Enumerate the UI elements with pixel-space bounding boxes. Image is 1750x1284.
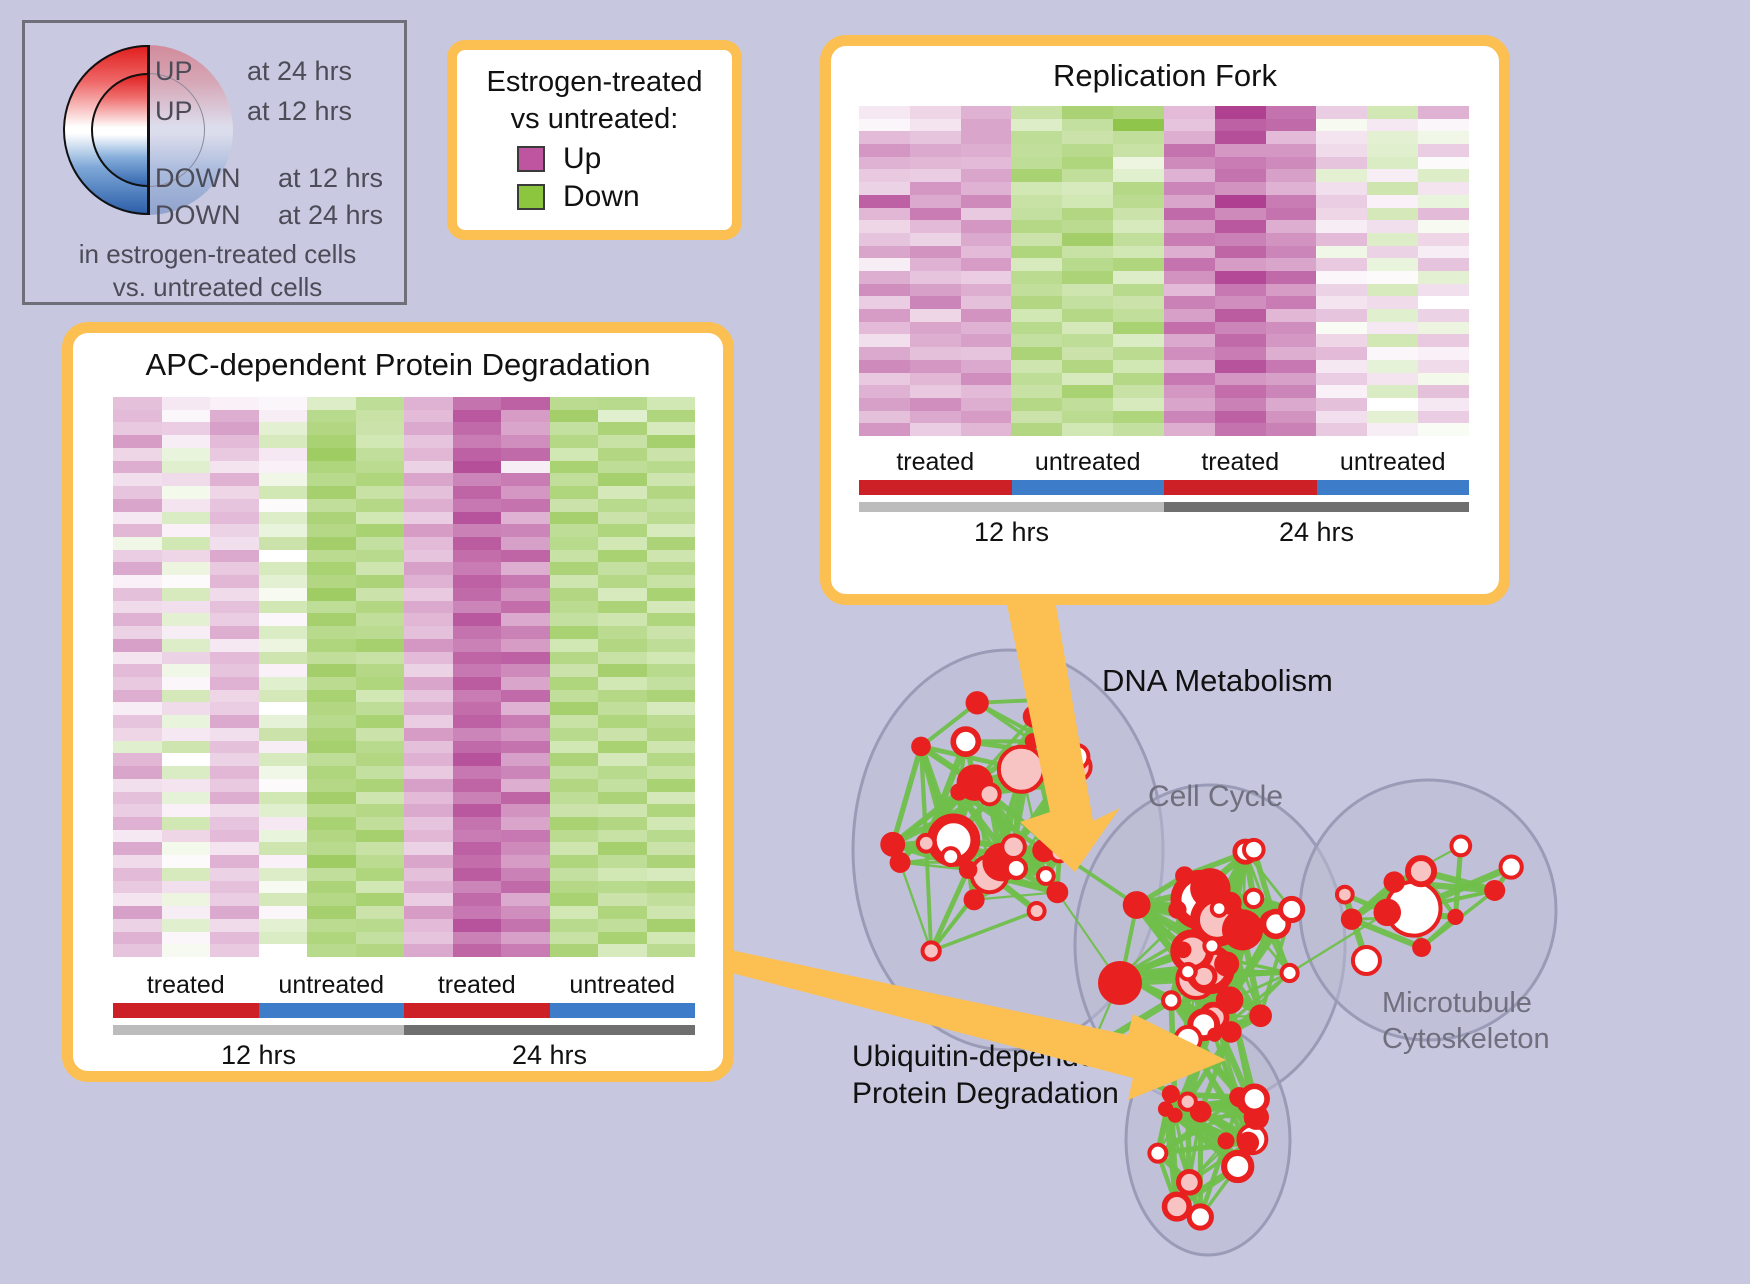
heatmap-cell bbox=[1266, 195, 1317, 208]
heatmap-cell bbox=[356, 562, 405, 575]
heatmap-cell bbox=[113, 448, 162, 461]
heatmap-cell bbox=[162, 435, 211, 448]
heatmap-cell bbox=[404, 893, 453, 906]
heatmap-cell bbox=[1062, 296, 1113, 309]
network-node[interactable] bbox=[1214, 951, 1239, 976]
network-node[interactable] bbox=[1057, 773, 1079, 795]
heatmap-cell bbox=[550, 652, 599, 665]
heatmap-cell bbox=[647, 690, 696, 703]
heatmap-cell bbox=[1113, 169, 1164, 182]
network-node[interactable] bbox=[1204, 938, 1219, 953]
heatmap-cell bbox=[259, 842, 308, 855]
heatmap-cell bbox=[210, 461, 259, 474]
heatmap-cell bbox=[453, 664, 502, 677]
network-node[interactable] bbox=[1023, 705, 1046, 728]
heatmap-cell bbox=[859, 119, 910, 132]
heatmap-cell bbox=[404, 842, 453, 855]
heatmap-cell bbox=[453, 397, 502, 410]
network-node[interactable] bbox=[1149, 1145, 1166, 1162]
axis-group-labels-rf: treateduntreatedtreateduntreated bbox=[859, 448, 1469, 477]
network-node[interactable] bbox=[1207, 1028, 1221, 1042]
heatmap-cell bbox=[259, 715, 308, 728]
legend-label-up: Up bbox=[563, 142, 601, 176]
heatmap-cell bbox=[162, 562, 211, 575]
heatmap-cell bbox=[1011, 284, 1062, 297]
heatmap-cell bbox=[1062, 195, 1113, 208]
axis-time-bars-apc bbox=[113, 1025, 695, 1035]
heatmap-cell bbox=[259, 486, 308, 499]
heatmap-cell bbox=[453, 588, 502, 601]
heatmap-cell bbox=[259, 919, 308, 932]
heatmap-cell bbox=[1266, 106, 1317, 119]
network-node[interactable] bbox=[950, 783, 967, 800]
network-node[interactable] bbox=[1281, 898, 1303, 920]
heatmap-cell bbox=[404, 855, 453, 868]
heatmap-cell bbox=[1215, 157, 1266, 170]
network-node[interactable] bbox=[1341, 908, 1362, 929]
heatmap-cell bbox=[598, 792, 647, 805]
heatmap-cell bbox=[1215, 284, 1266, 297]
heatmap-cell bbox=[259, 652, 308, 665]
heatmap-cell bbox=[210, 893, 259, 906]
heatmap-cell bbox=[404, 817, 453, 830]
heatmap-cell bbox=[910, 411, 961, 424]
network-node[interactable] bbox=[1242, 1086, 1267, 1111]
heatmap-cell bbox=[550, 422, 599, 435]
heatmap-cell bbox=[113, 652, 162, 665]
network-node[interactable] bbox=[1163, 992, 1179, 1008]
network-node[interactable] bbox=[1178, 1171, 1200, 1193]
color-key-footer-line2: vs. untreated cells bbox=[25, 271, 410, 304]
heatmap-cell bbox=[1418, 411, 1469, 424]
network-node[interactable] bbox=[980, 784, 1000, 804]
heatmap-cell bbox=[113, 715, 162, 728]
heatmap-cell bbox=[598, 499, 647, 512]
network-node[interactable] bbox=[1180, 1094, 1196, 1110]
network-node[interactable] bbox=[1168, 901, 1186, 919]
heatmap-cell bbox=[210, 804, 259, 817]
heatmap-cell bbox=[1266, 169, 1317, 182]
network-node[interactable] bbox=[1220, 1021, 1242, 1043]
heatmap-cell bbox=[550, 728, 599, 741]
heatmap-cell bbox=[501, 690, 550, 703]
network-node[interactable] bbox=[1175, 866, 1194, 885]
heatmap-cell bbox=[550, 741, 599, 754]
heatmap-cell bbox=[356, 499, 405, 512]
heatmap-cell bbox=[210, 512, 259, 525]
heatmap-cell bbox=[859, 398, 910, 411]
heatmap-cell bbox=[113, 461, 162, 474]
heatmap-cell bbox=[1011, 271, 1062, 284]
network-node[interactable] bbox=[1175, 941, 1192, 958]
heatmap-cell bbox=[1418, 144, 1469, 157]
heatmap-cell bbox=[550, 868, 599, 881]
heatmap-cell bbox=[162, 677, 211, 690]
key-label-up-12: UP bbox=[155, 96, 193, 127]
network-node[interactable] bbox=[1038, 868, 1054, 884]
heatmap-cell bbox=[961, 144, 1012, 157]
heatmap-cell bbox=[647, 779, 696, 792]
heatmap-cell bbox=[453, 410, 502, 423]
heatmap-cell bbox=[1164, 157, 1215, 170]
heatmap-cell bbox=[1367, 334, 1418, 347]
heatmap-cell bbox=[259, 422, 308, 435]
heatmap-cell bbox=[1316, 157, 1367, 170]
heatmap-cell bbox=[162, 715, 211, 728]
heatmap-cell bbox=[647, 906, 696, 919]
heatmap-cell bbox=[453, 842, 502, 855]
heatmap-cell bbox=[910, 334, 961, 347]
heatmap-cell bbox=[1062, 119, 1113, 132]
network-node[interactable] bbox=[1447, 909, 1463, 925]
heatmap-cell bbox=[647, 881, 696, 894]
heatmap-cell bbox=[598, 537, 647, 550]
axis-group-bar bbox=[1012, 480, 1165, 495]
heatmap-cell bbox=[961, 284, 1012, 297]
heatmap-cell bbox=[859, 258, 910, 271]
heatmap-cell bbox=[1266, 144, 1317, 157]
heatmap-cell bbox=[1164, 144, 1215, 157]
heatmap-cell bbox=[1062, 169, 1113, 182]
heatmap-cell bbox=[1266, 398, 1317, 411]
heatmap-cell bbox=[210, 601, 259, 614]
heatmap-cell bbox=[259, 817, 308, 830]
heatmap-cell bbox=[1113, 322, 1164, 335]
heatmap-cell bbox=[356, 715, 405, 728]
cluster-label-cell-cycle: Cell Cycle bbox=[1148, 778, 1283, 815]
heatmap-cell bbox=[598, 919, 647, 932]
heatmap-cell bbox=[1367, 360, 1418, 373]
network-node[interactable] bbox=[1002, 836, 1025, 859]
heatmap-cell bbox=[1367, 106, 1418, 119]
heatmap-cell bbox=[210, 753, 259, 766]
heatmap-cell bbox=[647, 601, 696, 614]
heatmap-cell bbox=[307, 715, 356, 728]
network-node[interactable] bbox=[1176, 1027, 1201, 1052]
heatmap-cell bbox=[598, 550, 647, 563]
heatmap-cell bbox=[1113, 208, 1164, 221]
heatmap-cell bbox=[647, 639, 696, 652]
heatmap-cell bbox=[1113, 157, 1164, 170]
network-node[interactable] bbox=[1249, 1004, 1272, 1027]
heatmap-cell bbox=[113, 817, 162, 830]
heatmap-cell bbox=[598, 906, 647, 919]
legend-title-line2: vs untreated: bbox=[457, 101, 732, 138]
heatmap-cell bbox=[1113, 233, 1164, 246]
network-node[interactable] bbox=[1051, 844, 1068, 861]
heatmap-cell bbox=[1316, 131, 1367, 144]
network-node[interactable] bbox=[1412, 938, 1431, 957]
heatmap-cell bbox=[1215, 411, 1266, 424]
heatmap-cell bbox=[1164, 373, 1215, 386]
network-node[interactable] bbox=[1408, 858, 1434, 884]
network-node[interactable] bbox=[953, 729, 978, 754]
network-node[interactable] bbox=[918, 835, 935, 852]
heatmap-cell bbox=[162, 906, 211, 919]
heatmap-cell bbox=[1418, 182, 1469, 195]
heatmap-cell bbox=[1011, 233, 1062, 246]
color-key-footer: in estrogen-treated cells vs. untreated … bbox=[25, 238, 410, 304]
heatmap-cell bbox=[307, 944, 356, 957]
heatmap-cell bbox=[550, 473, 599, 486]
heatmap-cell bbox=[259, 473, 308, 486]
heatmap-cell bbox=[501, 906, 550, 919]
heatmap-cell bbox=[1113, 182, 1164, 195]
heatmap-cell bbox=[550, 881, 599, 894]
heatmap-cell bbox=[1062, 258, 1113, 271]
network-node[interactable] bbox=[1501, 856, 1522, 877]
heatmap-cell bbox=[910, 195, 961, 208]
heatmap-cell bbox=[1164, 169, 1215, 182]
heatmap-cell bbox=[307, 512, 356, 525]
heatmap-cell bbox=[859, 144, 910, 157]
heatmap-cell bbox=[550, 893, 599, 906]
network-node[interactable] bbox=[1337, 887, 1353, 903]
heatmap-cell bbox=[550, 461, 599, 474]
heatmap-cell bbox=[113, 728, 162, 741]
heatmap-cell bbox=[598, 524, 647, 537]
heatmap-cell bbox=[859, 195, 910, 208]
network-node[interactable] bbox=[1168, 1108, 1183, 1123]
heatmap-cell bbox=[162, 588, 211, 601]
heatmap-cell bbox=[1113, 296, 1164, 309]
heatmap-cell bbox=[162, 613, 211, 626]
heatmap-cell bbox=[1164, 182, 1215, 195]
heatmap-cell bbox=[961, 195, 1012, 208]
network-svg bbox=[790, 620, 1750, 1279]
heatmap-cell bbox=[550, 486, 599, 499]
heatmap-cell bbox=[1011, 360, 1062, 373]
network-node[interactable] bbox=[1451, 837, 1470, 856]
heatmap-cell bbox=[113, 830, 162, 843]
network-node[interactable] bbox=[1353, 947, 1380, 974]
network-node[interactable] bbox=[1180, 964, 1195, 979]
heatmap-cell bbox=[259, 792, 308, 805]
network-node[interactable] bbox=[1245, 890, 1262, 907]
network-node[interactable] bbox=[1123, 891, 1151, 919]
heatmap-cell bbox=[259, 499, 308, 512]
network-node[interactable] bbox=[1222, 909, 1263, 950]
network-node[interactable] bbox=[966, 691, 989, 714]
heatmap-cell bbox=[259, 741, 308, 754]
heatmap-cell bbox=[1011, 195, 1062, 208]
heatmap-cell bbox=[501, 626, 550, 639]
heatmap-cell bbox=[647, 868, 696, 881]
heatmap-cell bbox=[1418, 246, 1469, 259]
heatmap-cell bbox=[910, 169, 961, 182]
network-node[interactable] bbox=[1025, 733, 1041, 749]
heatmap-cell bbox=[113, 537, 162, 550]
heatmap-cell bbox=[647, 842, 696, 855]
heatmap-cell bbox=[1113, 106, 1164, 119]
heatmap-cell bbox=[647, 550, 696, 563]
heatmap-cell bbox=[859, 208, 910, 221]
heatmap-cell bbox=[647, 435, 696, 448]
axis-group-label: treated bbox=[404, 971, 550, 1000]
heatmap-cell bbox=[259, 766, 308, 779]
heatmap-cell bbox=[113, 499, 162, 512]
panel-replication-fork: Replication Fork treateduntreatedtreated… bbox=[820, 35, 1510, 605]
heatmap-cell bbox=[307, 893, 356, 906]
heatmap-cell bbox=[404, 741, 453, 754]
heatmap-cell bbox=[647, 652, 696, 665]
network-node[interactable] bbox=[923, 942, 940, 959]
network-node[interactable] bbox=[1041, 690, 1059, 708]
network-node[interactable] bbox=[880, 832, 905, 857]
heatmap-cell bbox=[1266, 258, 1317, 271]
heatmap-cell bbox=[1266, 208, 1317, 221]
network-node[interactable] bbox=[942, 848, 959, 865]
heatmap-cell bbox=[598, 830, 647, 843]
heatmap-cell bbox=[1011, 208, 1062, 221]
heatmap-cell bbox=[1062, 182, 1113, 195]
heatmap-cell bbox=[501, 728, 550, 741]
network-node[interactable] bbox=[1007, 859, 1026, 878]
network-node[interactable] bbox=[1189, 1206, 1211, 1228]
heatmap-cell bbox=[598, 601, 647, 614]
heatmap-cell bbox=[647, 855, 696, 868]
heatmap-cell bbox=[1062, 233, 1113, 246]
heatmap-cell bbox=[647, 817, 696, 830]
heatmap-cell bbox=[1316, 195, 1367, 208]
heatmap-cell bbox=[910, 246, 961, 259]
network-node[interactable] bbox=[911, 737, 931, 757]
heatmap-cell bbox=[307, 804, 356, 817]
heatmap-cell bbox=[859, 271, 910, 284]
heatmap-cell bbox=[1367, 246, 1418, 259]
heatmap-cell bbox=[501, 779, 550, 792]
axis-time-labels-rf: 12 hrs24 hrs bbox=[859, 517, 1469, 548]
heatmap-cell bbox=[598, 422, 647, 435]
heatmap-cell bbox=[598, 512, 647, 525]
network-node[interactable] bbox=[1065, 745, 1089, 769]
heatmap-cell bbox=[210, 817, 259, 830]
heatmap-cell bbox=[1011, 220, 1062, 233]
axis-time-bar bbox=[113, 1025, 404, 1035]
network-node[interactable] bbox=[1224, 1153, 1251, 1180]
network-node[interactable] bbox=[1098, 961, 1142, 1005]
heatmap-cell bbox=[307, 397, 356, 410]
network-node[interactable] bbox=[1282, 965, 1298, 981]
network-node[interactable] bbox=[999, 747, 1044, 792]
heatmap-cell bbox=[647, 677, 696, 690]
heatmap-cell bbox=[307, 575, 356, 588]
heatmap-cell bbox=[404, 830, 453, 843]
heatmap-cell bbox=[404, 804, 453, 817]
heatmap-cell bbox=[307, 906, 356, 919]
heatmap-cell bbox=[1316, 398, 1367, 411]
heatmap-cell bbox=[1062, 334, 1113, 347]
heatmap-cell bbox=[162, 537, 211, 550]
heatmap-cell bbox=[307, 868, 356, 881]
heatmap-cell bbox=[647, 728, 696, 741]
heatmap-cell bbox=[550, 499, 599, 512]
heatmap-cell bbox=[210, 741, 259, 754]
heatmap-cell bbox=[1062, 347, 1113, 360]
heatmap-cell bbox=[210, 613, 259, 626]
heatmap-cell bbox=[1418, 423, 1469, 436]
heatmap-cell bbox=[1011, 322, 1062, 335]
heatmap-cell bbox=[647, 932, 696, 945]
heatmap-cell bbox=[859, 182, 910, 195]
heatmap-cell bbox=[307, 830, 356, 843]
heatmap-cell bbox=[1266, 347, 1317, 360]
heatmap-cell bbox=[1316, 385, 1367, 398]
network-node[interactable] bbox=[1373, 899, 1401, 927]
network-node[interactable] bbox=[1484, 880, 1505, 901]
heatmap-cell bbox=[598, 842, 647, 855]
heatmap-cell bbox=[113, 550, 162, 563]
heatmap-cell bbox=[1113, 220, 1164, 233]
network-node[interactable] bbox=[1383, 871, 1404, 892]
heatmap-cell bbox=[1062, 220, 1113, 233]
heatmap-cell bbox=[910, 119, 961, 132]
heatmap-cell bbox=[550, 639, 599, 652]
heatmap-cell bbox=[647, 919, 696, 932]
heatmap-cell bbox=[910, 322, 961, 335]
network-node[interactable] bbox=[1218, 1132, 1235, 1149]
heatmap-cell bbox=[1164, 398, 1215, 411]
heatmap-cell bbox=[1164, 246, 1215, 259]
heatmap-cell bbox=[453, 435, 502, 448]
heatmap-cell bbox=[859, 360, 910, 373]
network-node[interactable] bbox=[1212, 901, 1227, 916]
heatmap-cell bbox=[1215, 423, 1266, 436]
network-node[interactable] bbox=[1029, 903, 1045, 919]
network-node[interactable] bbox=[1162, 1085, 1180, 1103]
heatmap-cell bbox=[501, 855, 550, 868]
heatmap-cell bbox=[910, 182, 961, 195]
heatmap-cell bbox=[162, 804, 211, 817]
heatmap-cell bbox=[162, 932, 211, 945]
heatmap-cell bbox=[961, 220, 1012, 233]
heatmap-cell bbox=[647, 537, 696, 550]
heatmap-cell bbox=[550, 677, 599, 690]
heatmap-cell bbox=[1164, 106, 1215, 119]
heatmap-cell bbox=[1367, 208, 1418, 221]
network-node[interactable] bbox=[964, 889, 985, 910]
heatmap-cell bbox=[453, 690, 502, 703]
heatmap-cell bbox=[1113, 398, 1164, 411]
network-node[interactable] bbox=[1165, 1194, 1190, 1219]
heatmap-cell bbox=[550, 766, 599, 779]
heatmap-cell bbox=[1316, 208, 1367, 221]
heatmap-cell bbox=[210, 779, 259, 792]
network-node[interactable] bbox=[1244, 840, 1264, 860]
network-node[interactable] bbox=[1216, 986, 1244, 1014]
heatmap-cell bbox=[1164, 423, 1215, 436]
heatmap-cell bbox=[647, 588, 696, 601]
heatmap-cell bbox=[501, 601, 550, 614]
heatmap-cell bbox=[501, 397, 550, 410]
heatmap-cell bbox=[1011, 182, 1062, 195]
heatmap-cell bbox=[404, 626, 453, 639]
heatmap-cell bbox=[961, 296, 1012, 309]
heatmap-cell bbox=[501, 537, 550, 550]
heatmap-cell bbox=[550, 944, 599, 957]
heatmap-cell bbox=[210, 537, 259, 550]
network-node[interactable] bbox=[959, 860, 978, 879]
heatmap-cell bbox=[961, 233, 1012, 246]
heatmap-cell bbox=[1164, 347, 1215, 360]
heatmap-cell bbox=[307, 550, 356, 563]
heatmap-cell bbox=[501, 410, 550, 423]
heatmap-cell bbox=[356, 626, 405, 639]
heatmap-cell bbox=[501, 422, 550, 435]
heatmap-cell bbox=[307, 410, 356, 423]
heatmap-cell bbox=[356, 410, 405, 423]
heatmap-cell bbox=[859, 246, 910, 259]
